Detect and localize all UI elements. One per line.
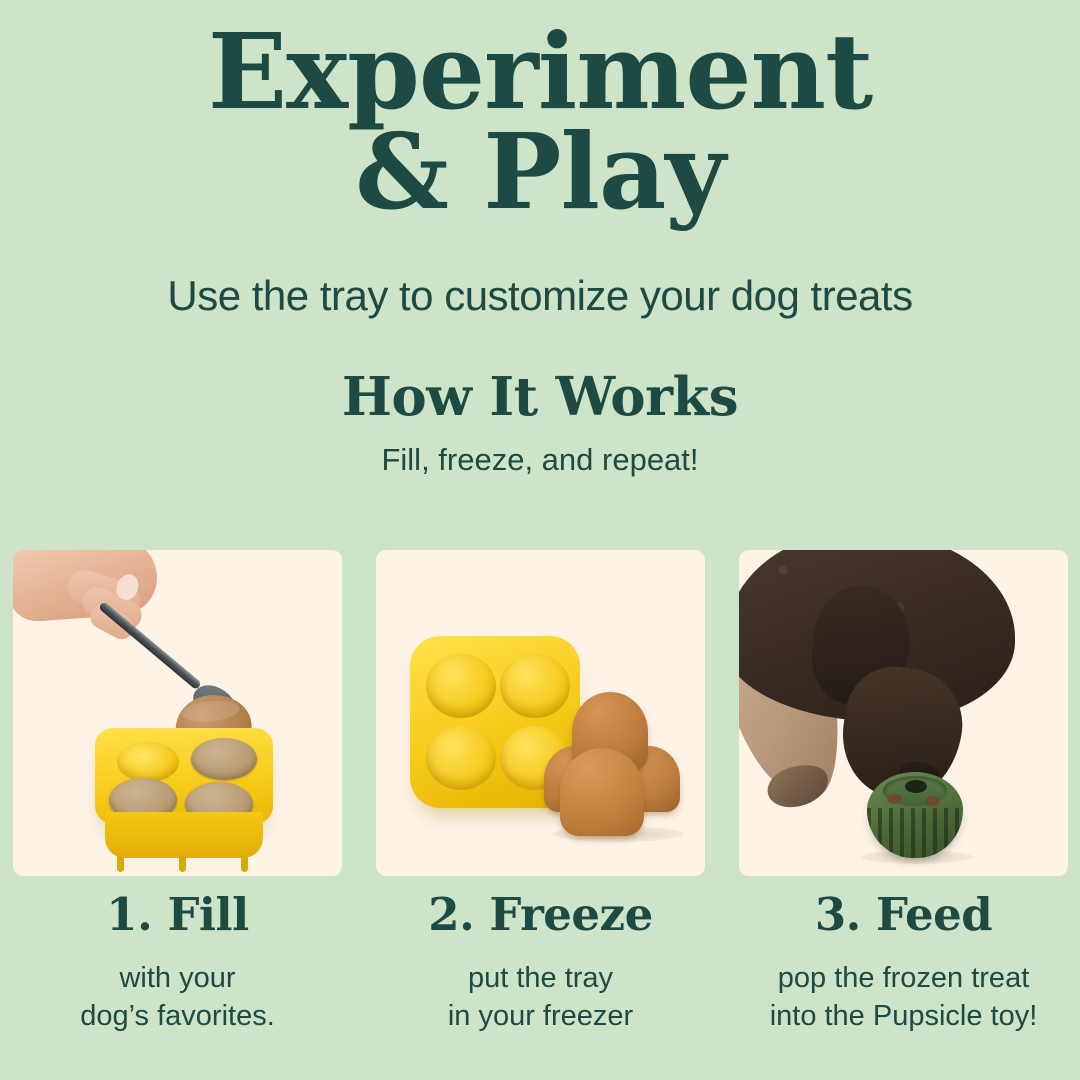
steps-image-row	[13, 550, 1067, 876]
step-description-line-2: dog’s favorites.	[13, 997, 342, 1035]
frozen-treat-dome	[560, 748, 644, 836]
step-title: 2. Freeze	[376, 892, 705, 937]
step-description-line-1: pop the frozen treat	[739, 959, 1068, 997]
step-image-card-feed	[739, 550, 1068, 876]
step-title: 1. Fill	[13, 892, 342, 937]
tray-cavity-filled	[191, 738, 257, 780]
section-subtitle: Fill, freeze, and repeat!	[0, 442, 1080, 478]
spoon-handle-illustration	[98, 601, 202, 690]
step-image-card-fill	[13, 550, 342, 876]
step-description: pop the frozen treat into the Pupsicle t…	[739, 959, 1068, 1036]
tray-cavity-empty	[426, 726, 496, 790]
tray-leg-illustration	[117, 856, 124, 872]
tray-leg-illustration	[241, 856, 248, 872]
tray-cavity-empty	[426, 654, 496, 718]
steps-caption-row: 1. Fill with your dog’s favorites. 2. Fr…	[13, 892, 1067, 1036]
step-description-line-1: with your	[13, 959, 342, 997]
product-infographic: Experiment & Play Use the tray to custom…	[0, 0, 1080, 1080]
toy-hole	[887, 794, 902, 804]
pupsicle-toy-illustration	[867, 772, 963, 858]
step-description-line-1: put the tray	[376, 959, 705, 997]
tray-leg-illustration	[179, 856, 186, 872]
yellow-tray-body-illustration	[105, 812, 263, 858]
step-caption-fill: 1. Fill with your dog’s favorites.	[13, 892, 342, 1036]
step-image-card-freeze	[376, 550, 705, 876]
step-description-line-2: into the Pupsicle toy!	[739, 997, 1068, 1035]
step-caption-freeze: 2. Freeze put the tray in your freezer	[376, 892, 705, 1036]
tray-cavity-empty	[117, 742, 179, 782]
page-title: Experiment & Play	[0, 0, 1080, 222]
step-description: with your dog’s favorites.	[13, 959, 342, 1036]
toy-hole	[925, 796, 940, 806]
step-title: 3. Feed	[739, 892, 1068, 937]
toy-hole	[905, 780, 927, 793]
step-description: put the tray in your freezer	[376, 959, 705, 1036]
tray-cavity-empty	[500, 654, 570, 718]
step-description-line-2: in your freezer	[376, 997, 705, 1035]
section-title: How It Works	[0, 366, 1080, 428]
page-subtitle: Use the tray to customize your dog treat…	[0, 272, 1080, 320]
step-caption-feed: 3. Feed pop the frozen treat into the Pu…	[739, 892, 1068, 1036]
page-title-line-2: & Play	[0, 122, 1080, 222]
